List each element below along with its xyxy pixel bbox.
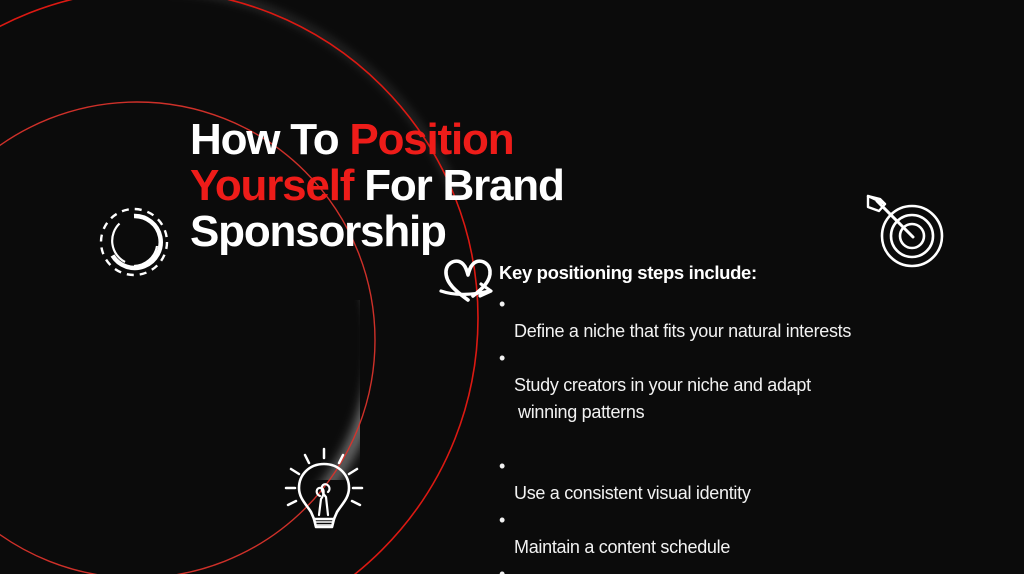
- list-item: Use a consistent visual identity: [499, 453, 969, 507]
- bulb-filament: [317, 484, 330, 515]
- title-line-2-accent: Yourself: [190, 161, 353, 210]
- bulb-rays: [286, 449, 362, 505]
- title-line-2-white: For Brand: [353, 161, 563, 210]
- list-item-text: Study creators in your niche and adapt: [514, 375, 811, 395]
- page-title: How To Position Yourself For Brand Spons…: [190, 117, 690, 255]
- list-item-text: Use a consistent visual identity: [514, 483, 751, 503]
- list-item: Study creators in your niche and adapt w…: [499, 345, 969, 453]
- grey-glow-arc: [0, 0, 480, 574]
- dashed-ring-icon: [95, 203, 173, 281]
- list-item: Share helpful, entertaining, or relatabl…: [499, 561, 969, 574]
- title-line-2: Yourself For Brand: [190, 163, 690, 209]
- bulb-base-hatching: [316, 522, 332, 525]
- title-line-1-white: How To: [190, 115, 349, 164]
- slide-canvas: How To Position Yourself For Brand Spons…: [0, 0, 1024, 574]
- list-item-wrap: winning patterns: [514, 399, 969, 426]
- list-item: Define a niche that fits your natural in…: [499, 291, 969, 345]
- list-item: Maintain a content schedule: [499, 507, 969, 561]
- arrow-fletching: [868, 196, 885, 211]
- list-item-text: Maintain a content schedule: [514, 537, 730, 557]
- title-line-1-accent: Position: [349, 115, 513, 164]
- lightbulb-icon: [283, 447, 365, 537]
- heart-arrow-icon: [437, 250, 499, 306]
- key-steps-heading: Key positioning steps include:: [499, 262, 969, 284]
- key-steps-section: Key positioning steps include: Define a …: [499, 262, 969, 574]
- big-red-circle: [0, 0, 478, 574]
- key-steps-list: Define a niche that fits your natural in…: [499, 291, 969, 574]
- title-line-1: How To Position: [190, 117, 690, 163]
- title-line-3: Sponsorship: [190, 209, 690, 255]
- list-item-text: Define a niche that fits your natural in…: [514, 321, 851, 341]
